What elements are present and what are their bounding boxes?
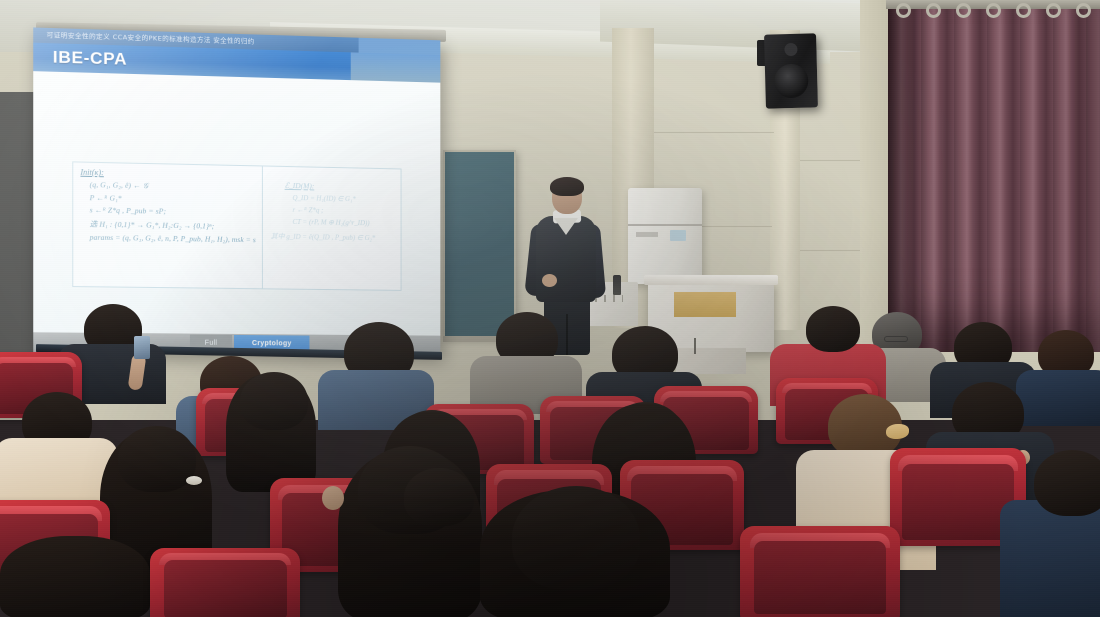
presenter-hand — [542, 274, 557, 287]
curtain-grommet — [926, 3, 941, 18]
lecture-hall-scene: 可证明安全性的定义 CCA安全的PKE的标准构造方法 安全性的归约 IBE-CP… — [0, 0, 1100, 617]
air-conditioner-unit — [628, 188, 702, 284]
wall-seam — [800, 250, 862, 251]
audience-hair — [0, 536, 150, 617]
lectern-top — [644, 275, 778, 285]
audience-head — [240, 372, 308, 430]
formula-panel-right: ℰ_ID(M): Q_ID = H₁(ID) ∈ G₁* r ←ᴿ Z*q ; … — [263, 166, 401, 289]
encrypt-heading: ℰ_ID(M): — [285, 181, 397, 192]
curtain-grommet — [1046, 3, 1061, 18]
ac-seam — [628, 224, 702, 226]
wall-seam — [800, 160, 862, 161]
formula-panel: Init(κ): (q, G₁, G₂, ê) ← 𝒢 P ←ᴿ G₁* s ←… — [72, 161, 401, 291]
audience-head — [806, 306, 860, 352]
wall-speaker-icon — [764, 33, 818, 108]
init-line: (q, G₁, G₂, ê) ← 𝒢 — [90, 180, 256, 193]
init-line: P ←ᴿ G₁* — [90, 193, 256, 205]
glasses-icon — [884, 336, 908, 342]
audience-area — [0, 300, 1100, 617]
audience-head — [1034, 450, 1100, 516]
slide-title: IBE-CPA — [53, 47, 127, 69]
hair-bow — [886, 424, 909, 439]
curtain-grommet — [986, 3, 1001, 18]
ac-vent — [636, 232, 658, 237]
init-line: params = (q, G₁, G₂, ê, n, P, P_pub, H₁,… — [90, 232, 256, 244]
encrypt-line: CT = (rP, M ⊕ H₂(g^r_ID)) — [293, 218, 397, 228]
curtain-grommet — [1076, 3, 1091, 18]
audience-hand — [322, 486, 344, 510]
curtain-grommet — [1016, 3, 1031, 18]
speaker-tweeter — [784, 43, 797, 56]
encrypt-footnote: 其中 g_ID = ê(Q_ID , P_pub) ∈ G₂* — [271, 232, 397, 244]
smartphone-icon[interactable] — [134, 336, 150, 359]
presenter-hair — [550, 177, 584, 196]
init-line: 选 H₁ : {0,1}* → G₁*, H₂:G₂ → {0,1}ⁿ; — [90, 218, 256, 232]
auditorium-seat[interactable] — [150, 548, 300, 617]
ac-label — [670, 230, 686, 241]
encrypt-line: r ←ᴿ Z*q ; — [293, 206, 397, 216]
encrypt-line: Q_ID = H₁(ID) ∈ G₁* — [293, 194, 397, 204]
audience-head — [404, 468, 474, 526]
auditorium-seat[interactable] — [740, 526, 900, 617]
formula-panel-left: Init(κ): (q, G₁, G₂, ê) ← 𝒢 P ←ᴿ G₁* s ←… — [73, 162, 263, 288]
speaker-driver — [774, 64, 809, 99]
curtain-grommet — [896, 3, 911, 18]
init-line: s ←ᴿ Z*q , P_pub = sP; — [90, 206, 256, 218]
init-heading: Init(κ): — [80, 168, 255, 181]
audience-head — [512, 486, 640, 590]
audience-head — [118, 426, 196, 492]
curtain-grommet — [956, 3, 971, 18]
wall-seam — [654, 132, 774, 133]
slide-body: Init(κ): (q, G₁, G₂, ê) ← 𝒢 P ←ᴿ G₁* s ←… — [33, 71, 440, 328]
water-bottle — [613, 275, 621, 295]
slide-title-tail — [351, 52, 441, 82]
hair-clip — [186, 476, 202, 485]
audience-body — [1000, 500, 1100, 617]
audience-body — [1016, 370, 1100, 426]
